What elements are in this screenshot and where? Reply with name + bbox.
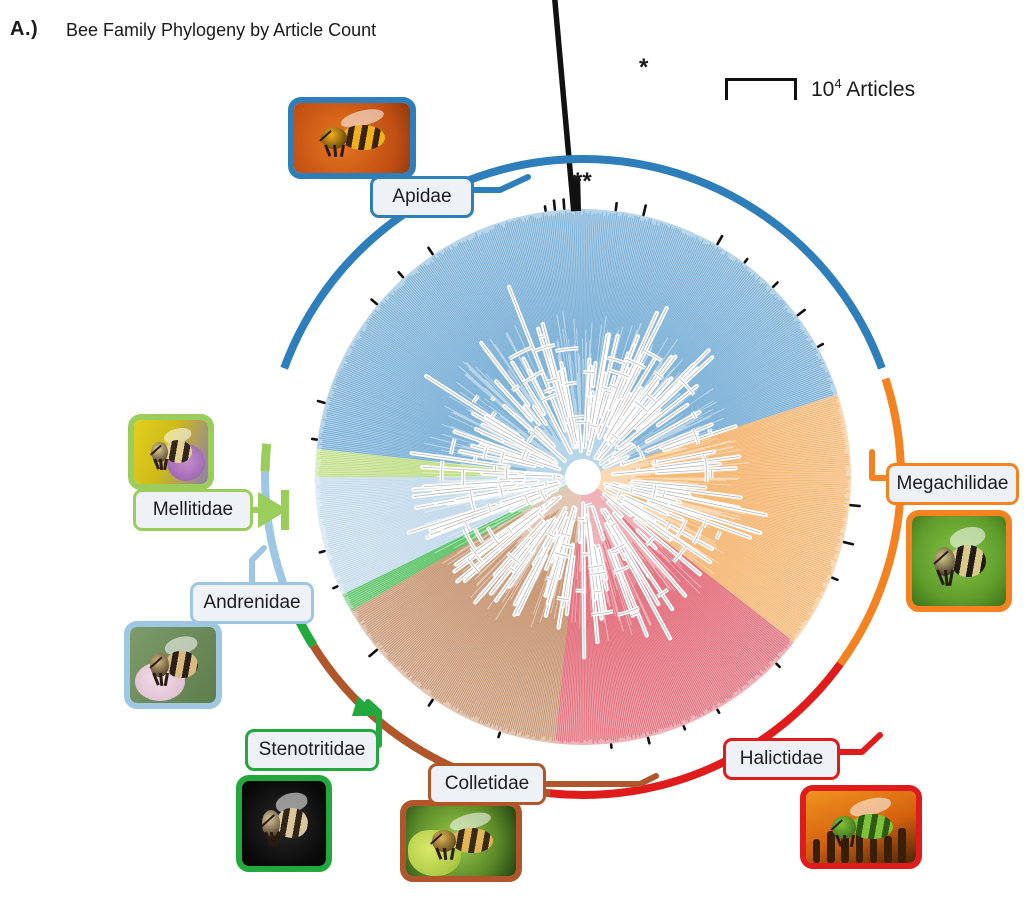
family-photo-andrenidae[interactable] bbox=[124, 621, 222, 709]
bee-leg bbox=[949, 570, 955, 586]
tip-branch bbox=[583, 210, 584, 359]
family-label-megachilidae[interactable]: Megachilidae bbox=[886, 463, 1019, 505]
photo-scene bbox=[806, 791, 916, 863]
double-asterisk: ** bbox=[573, 170, 592, 194]
family-photo-halictidae[interactable] bbox=[800, 785, 922, 869]
family-photo-colletidae[interactable] bbox=[400, 800, 522, 882]
tip-tick bbox=[554, 201, 555, 210]
bee-illustration bbox=[145, 647, 202, 683]
family-label-text: Andrenidae bbox=[203, 592, 300, 614]
tip-tick bbox=[773, 283, 777, 287]
tip-tick bbox=[832, 578, 837, 580]
bee-abdomen bbox=[277, 808, 308, 838]
ring-arc-stenotritidae[interactable] bbox=[300, 621, 314, 645]
tip-tick bbox=[648, 738, 649, 743]
tip-tick bbox=[851, 505, 860, 506]
single-asterisk: * bbox=[639, 56, 648, 80]
tip-tick bbox=[684, 726, 685, 729]
ring-arc-mellitidae[interactable] bbox=[265, 444, 267, 472]
bee-illustration bbox=[826, 810, 899, 845]
tip-tick bbox=[818, 344, 823, 347]
bee-illustration bbox=[257, 803, 312, 844]
internal-arc-edge bbox=[495, 465, 496, 470]
family-label-colletidae[interactable]: Colletidae bbox=[428, 763, 546, 805]
tip-tick bbox=[777, 664, 780, 667]
tip-tick bbox=[644, 206, 646, 215]
photo-scene bbox=[294, 103, 410, 173]
bee-abdomen bbox=[342, 125, 385, 150]
photo-scene bbox=[130, 627, 216, 703]
tip-tick bbox=[318, 401, 324, 403]
bee-abdomen bbox=[951, 545, 986, 577]
family-label-text: Mellitidae bbox=[153, 499, 233, 521]
ring-arc-megachilidae[interactable] bbox=[840, 379, 901, 664]
stem bbox=[898, 828, 906, 863]
family-photo-mellitidae[interactable] bbox=[128, 414, 214, 490]
family-label-stenotritidae[interactable]: Stenotritidae bbox=[245, 729, 379, 771]
tip-tick bbox=[844, 542, 853, 544]
bee-leg bbox=[340, 145, 345, 157]
internal-arc-edge bbox=[573, 519, 576, 520]
tip-tick bbox=[428, 248, 432, 254]
tip-branch bbox=[319, 477, 496, 478]
bee-abdomen bbox=[166, 651, 198, 678]
stem bbox=[813, 839, 821, 863]
family-label-text: Apidae bbox=[392, 186, 451, 208]
family-photo-apidae[interactable] bbox=[288, 97, 416, 179]
tip-tick bbox=[399, 272, 403, 277]
photo-scene bbox=[242, 781, 326, 866]
connector-colletidae bbox=[546, 776, 656, 784]
bee-illustration bbox=[147, 437, 196, 468]
photo-scene bbox=[912, 516, 1006, 606]
family-label-apidae[interactable]: Apidae bbox=[370, 176, 474, 218]
family-label-mellitidae[interactable]: Mellitidae bbox=[133, 489, 253, 531]
family-label-text: Megachilidae bbox=[897, 473, 1009, 495]
connector-halictidae bbox=[840, 735, 880, 752]
bee-illustration bbox=[315, 121, 392, 155]
tip-tick bbox=[429, 700, 433, 705]
tip-tick bbox=[372, 300, 377, 304]
bee-abdomen bbox=[165, 440, 192, 463]
tip-tick bbox=[718, 236, 723, 244]
family-label-text: Halictidae bbox=[740, 748, 823, 770]
family-label-halictidae[interactable]: Halictidae bbox=[723, 738, 840, 780]
bee-illustration bbox=[426, 824, 499, 858]
photo-scene bbox=[134, 420, 208, 484]
connector-megachilidae bbox=[872, 452, 886, 478]
bee-abdomen bbox=[452, 828, 493, 853]
tip-tick bbox=[370, 650, 377, 656]
tip-tick bbox=[320, 551, 324, 552]
family-label-andrenidae[interactable]: Andrenidae bbox=[190, 582, 314, 624]
bee-illustration bbox=[929, 539, 991, 582]
tip-tick bbox=[745, 259, 747, 262]
connector-andrenidae bbox=[252, 548, 264, 582]
tip-tick bbox=[718, 710, 720, 713]
family-label-text: Colletidae bbox=[445, 773, 530, 795]
family-photo-stenotritidae[interactable] bbox=[236, 775, 332, 872]
bee-abdomen bbox=[852, 814, 893, 840]
tip-tick bbox=[564, 200, 565, 209]
tip-tick bbox=[333, 586, 337, 588]
tip-tick bbox=[312, 439, 316, 440]
tip-tick bbox=[798, 310, 805, 315]
family-label-text: Stenotritidae bbox=[259, 739, 366, 761]
tip-tick bbox=[499, 733, 500, 737]
tip-tick bbox=[545, 206, 546, 210]
photo-scene bbox=[406, 806, 516, 876]
spike-tall-apis bbox=[554, 0, 573, 211]
family-photo-megachilidae[interactable] bbox=[906, 510, 1012, 612]
tip-tick bbox=[616, 203, 617, 210]
